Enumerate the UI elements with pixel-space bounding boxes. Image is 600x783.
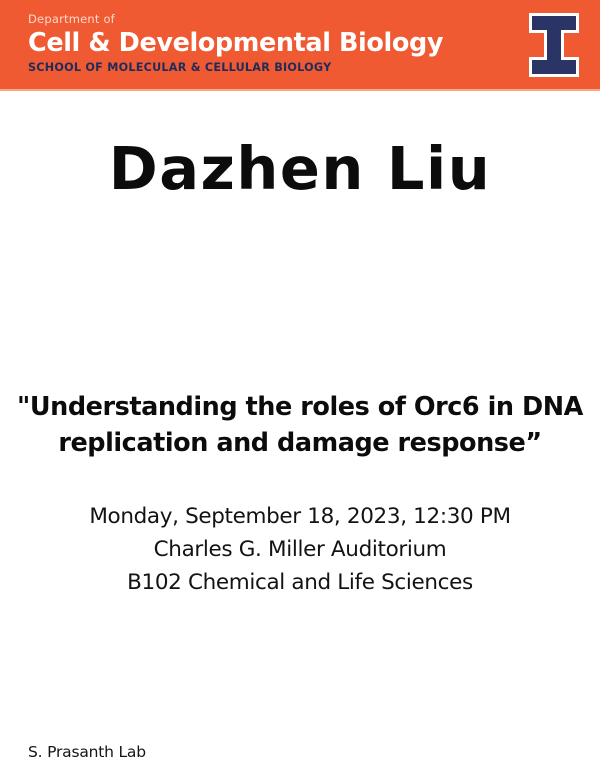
school-name: SCHOOL OF MOLECULAR & CELLULAR BIOLOGY — [28, 61, 498, 75]
event-datetime: Monday, September 18, 2023, 12:30 PM — [0, 500, 600, 533]
speaker-name: Dazhen Liu — [0, 136, 600, 202]
department-name: Cell & Developmental Biology — [28, 28, 498, 58]
department-eyebrow: Department of — [28, 12, 498, 26]
talk-title-line-1: "Understanding the roles of Orc6 in DNA — [0, 389, 600, 425]
event-details: Monday, September 18, 2023, 12:30 PM Cha… — [0, 500, 600, 599]
talk-title-line-2: replication and damage response” — [0, 425, 600, 461]
event-venue: Charles G. Miller Auditorium — [0, 533, 600, 566]
header-bottom-hairline — [0, 89, 600, 91]
event-room: B102 Chemical and Life Sciences — [0, 566, 600, 599]
block-i-illinois-logo-icon — [529, 13, 579, 77]
header-band: Department of Cell & Developmental Biolo… — [0, 0, 600, 89]
talk-title: "Understanding the roles of Orc6 in DNA … — [0, 389, 600, 461]
lab-footer: S. Prasanth Lab — [28, 742, 146, 762]
header-text-block: Department of Cell & Developmental Biolo… — [28, 12, 498, 75]
